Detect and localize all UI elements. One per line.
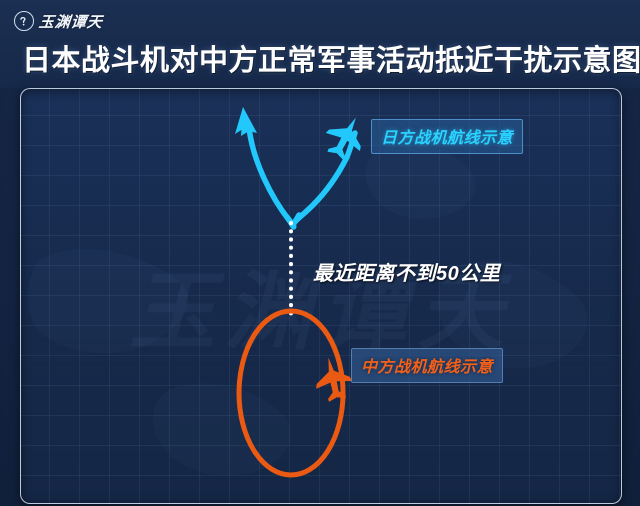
circle-logo-icon — [14, 11, 34, 31]
brand-logo: 玉渊谭天 — [14, 10, 103, 32]
distance-annotation: 最近距离不到50公里 — [313, 257, 500, 286]
arrow-head-icon — [235, 107, 257, 136]
brand-logo-text: 玉渊谭天 — [38, 11, 104, 32]
diagram-panel: 玉渊谭天 — [20, 88, 622, 504]
jet-fighter-icon-china — [310, 354, 355, 404]
header-bar: 玉渊谭天 日本战斗机对中方正常军事活动抵近干扰示意图 — [0, 0, 640, 88]
page-title: 日本战斗机对中方正常军事活动抵近干扰示意图 — [22, 44, 640, 78]
flight-paths-layer — [21, 89, 621, 503]
legend-badge-china-route[interactable]: 中方战机航线示意 — [351, 348, 503, 383]
infographic-stage: 玉渊谭天 日本战斗机对中方正常军事活动抵近干扰示意图 玉渊谭天 — [0, 0, 640, 506]
legend-badge-japan-route[interactable]: 日方战机航线示意 — [371, 119, 523, 154]
china-route-path — [239, 311, 343, 475]
